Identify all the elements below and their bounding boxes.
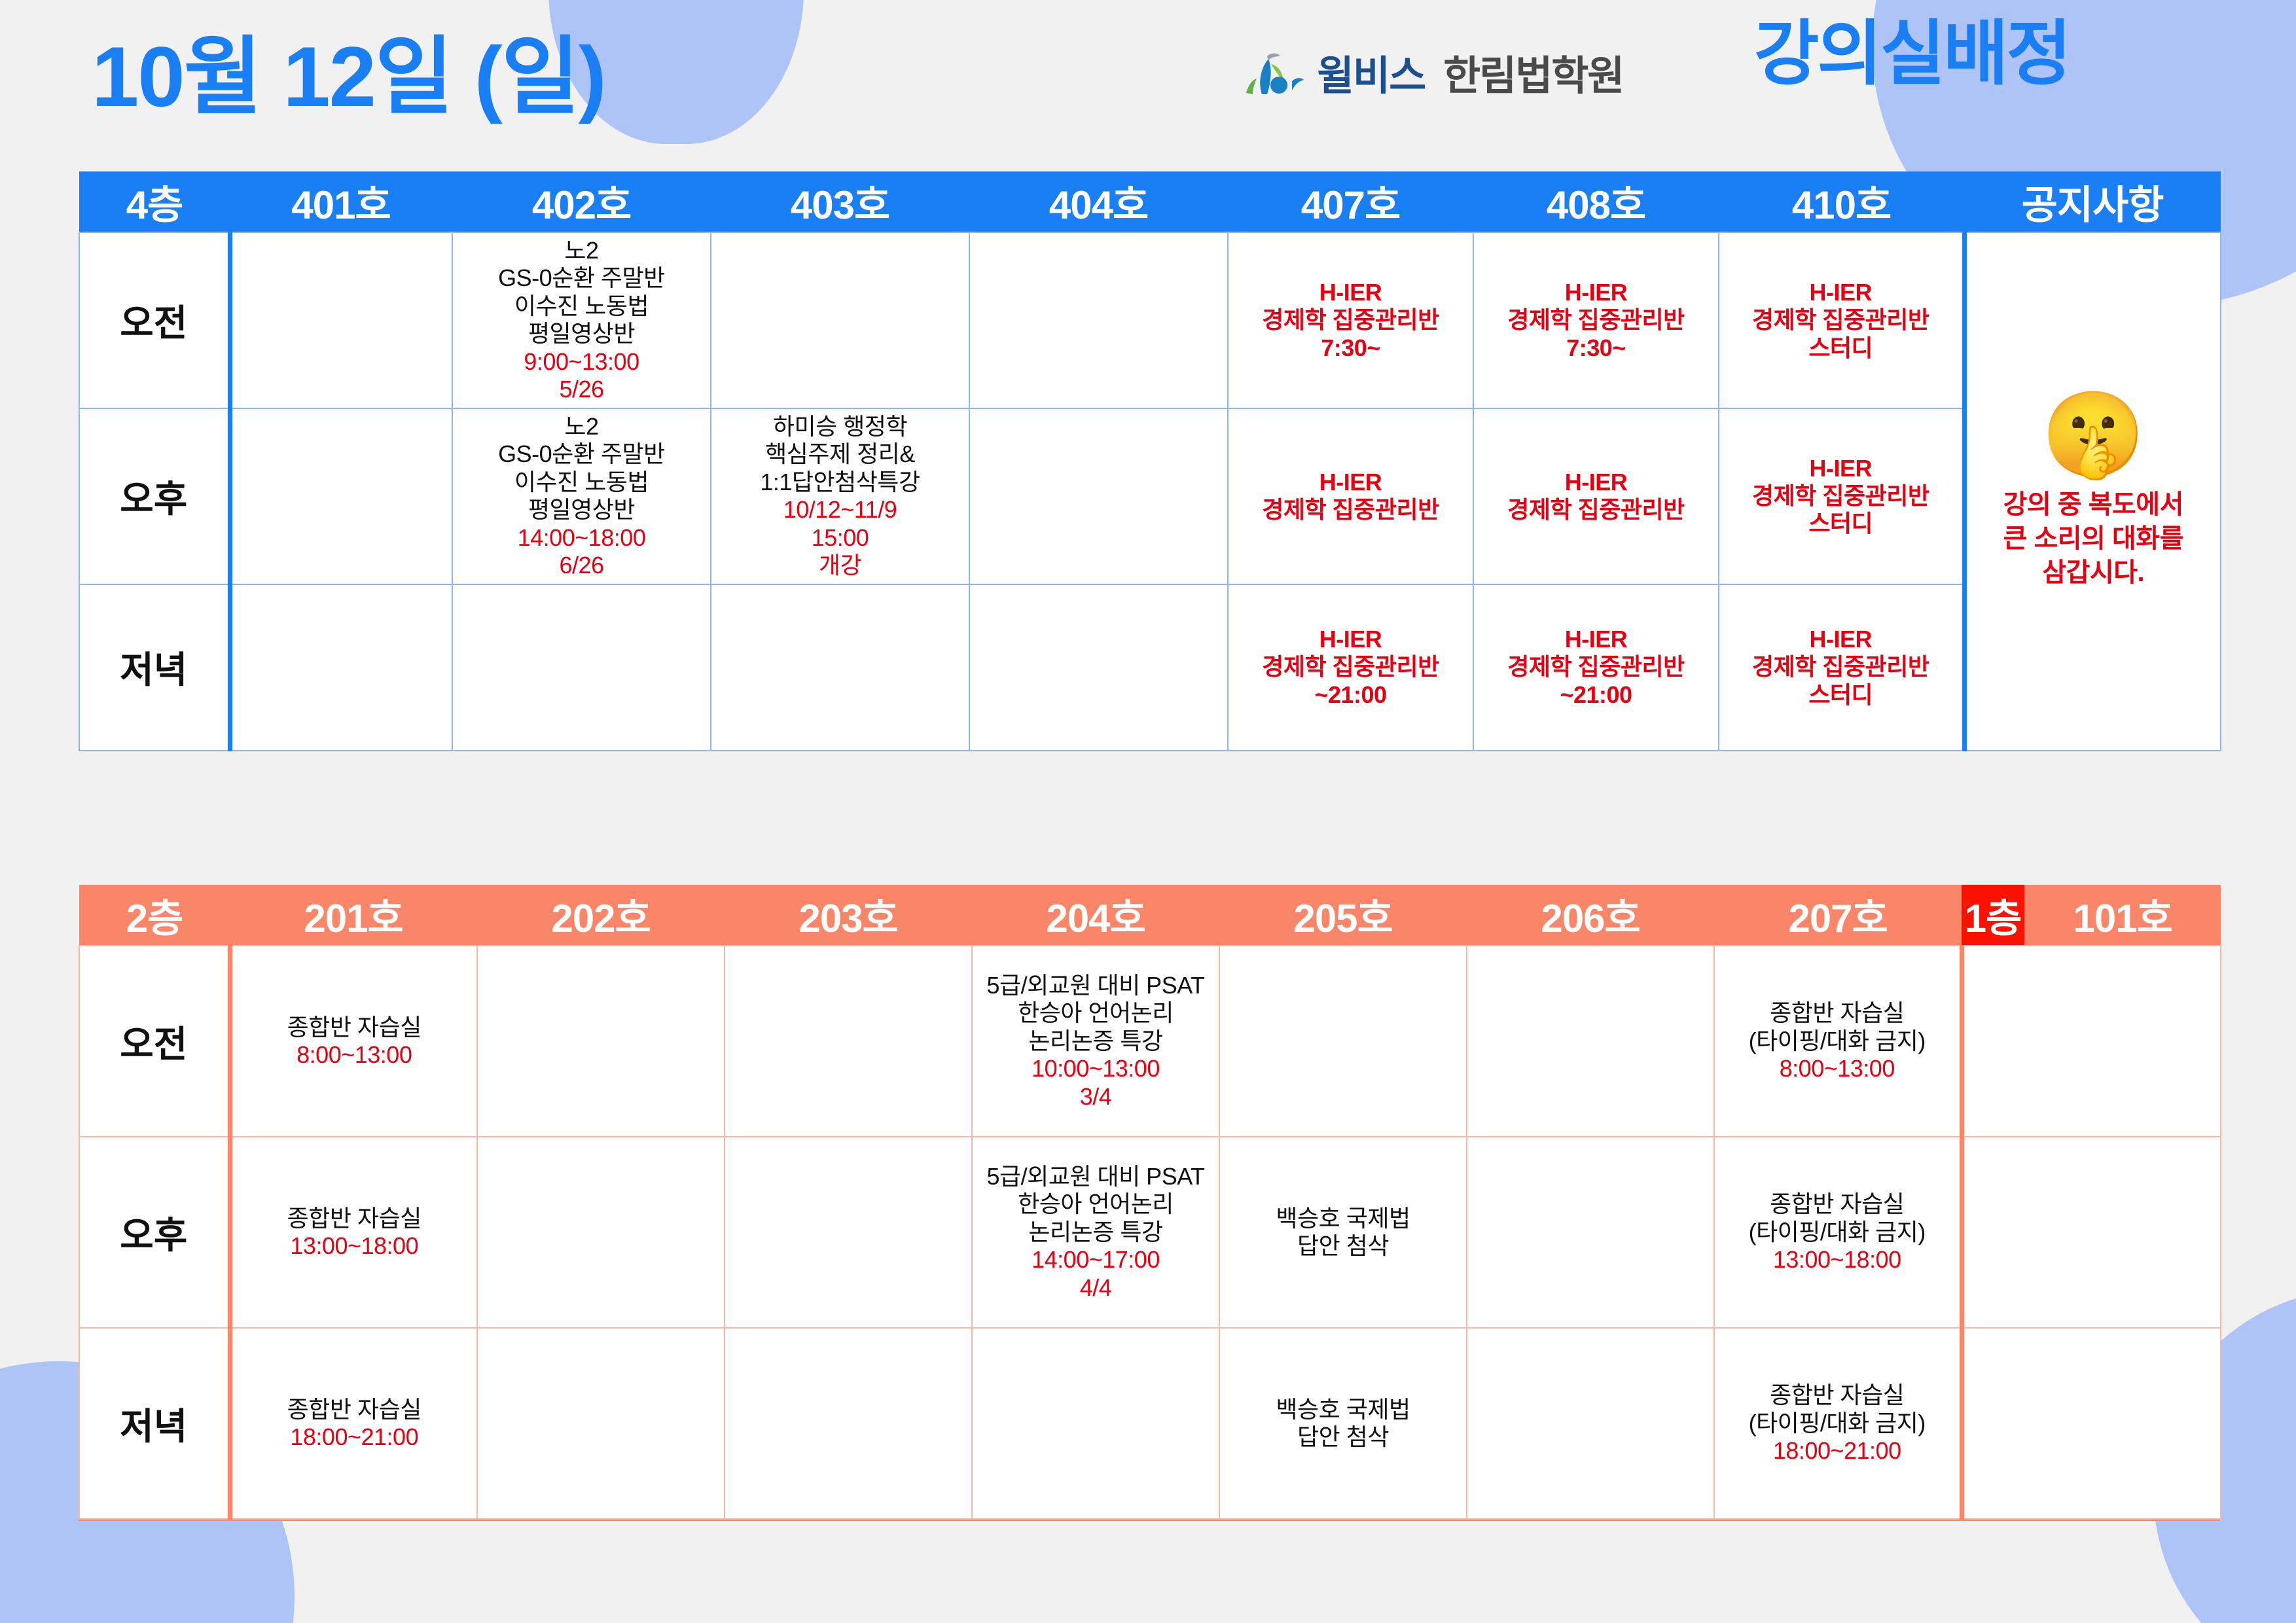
cell-content [478, 1419, 724, 1427]
floor2-column-header-207호: 207호 [1714, 885, 1962, 946]
floor1-cell-101호-저녁 [1962, 1328, 2221, 1519]
notice-text-line: 삼갑시다. [2003, 556, 2183, 590]
floor4-row-label-오전: 오전 [79, 232, 230, 408]
cell-content [970, 664, 1227, 671]
cell-content: 종합반 자습실8:00~13:00 [232, 1010, 477, 1073]
cell-text-line: 한승아 언어논리 [977, 1190, 1215, 1218]
brand-logo: 윌비스 한림법학원 [1242, 51, 1623, 97]
floor2-table-row: 저녁종합반 자습실18:00~21:00백승호 국제법답안 첨삭종합반 자습실(… [79, 1328, 2221, 1519]
cell-content [1467, 1228, 1713, 1236]
cell-content: H-IER경제학 집중관리반스터디 [1719, 275, 1962, 366]
cell-text-line: 답안 첨삭 [1224, 1232, 1462, 1260]
cell-content [1964, 1419, 2221, 1427]
cell-content: H-IER경제학 집중관리반스터디 [1719, 451, 1962, 542]
floor2-cell-206호-오전 [1467, 946, 1714, 1137]
cell-content: 하미승 행정학핵심주제 정리&1:1답안첨삭특강10/12~11/915:00개… [711, 409, 969, 584]
cell-text-line: GS-0순환 주말반 [457, 264, 706, 292]
cell-content [711, 316, 969, 324]
cell-content: 종합반 자습실18:00~21:00 [232, 1392, 477, 1455]
floor4-cell-402호-저녁 [452, 584, 711, 751]
floor2-cell-203호-저녁 [725, 1328, 972, 1519]
cell-content: 종합반 자습실(타이핑/대화 금지)18:00~21:00 [1715, 1378, 1960, 1469]
cell-content [725, 1419, 971, 1427]
cell-content [1964, 1037, 2221, 1045]
cell-content: H-IER경제학 집중관리반~21:00 [1474, 622, 1718, 713]
floor4-schedule-table: 4층401호402호403호404호407호408호410호공지사항 오전노2G… [79, 171, 2221, 751]
cell-text-line: 스터디 [1723, 510, 1958, 537]
notice-content: 🤫강의 중 복도에서큰 소리의 대화를삼갑시다. [1967, 393, 2221, 590]
cell-text-line: 이수진 노동법 [457, 293, 706, 320]
cell-content: H-IER경제학 집중관리반7:30~ [1474, 275, 1718, 366]
floor2-table-row: 오후종합반 자습실13:00~18:005급/외교원 대비 PSAT한승아 언어… [79, 1137, 2221, 1328]
floor2-column-header-202호: 202호 [477, 885, 725, 946]
cell-text-line: ~21:00 [1232, 681, 1469, 709]
floor4-header-row: 4층401호402호403호404호407호408호410호공지사항 [79, 171, 2221, 232]
cell-content: H-IER경제학 집중관리반 [1474, 465, 1718, 528]
floor4-column-header-410호: 410호 [1719, 171, 1964, 232]
cell-content [725, 1037, 971, 1045]
floor2-cell-205호-오후: 백승호 국제법답안 첨삭 [1219, 1137, 1467, 1328]
cell-text-line: 한승아 언어논리 [977, 999, 1215, 1027]
floor2-cell-207호-오전: 종합반 자습실(타이핑/대화 금지)8:00~13:00 [1714, 946, 1962, 1137]
cell-text-line: 평일영상반 [457, 320, 706, 348]
cell-content: 5급/외교원 대비 PSAT한승아 언어논리논리논증 특강10:00~13:00… [973, 968, 1219, 1115]
cell-text-line: 백승호 국제법 [1224, 1205, 1462, 1232]
cell-content: H-IER경제학 집중관리반~21:00 [1229, 622, 1473, 713]
floor2-cell-207호-저녁: 종합반 자습실(타이핑/대화 금지)18:00~21:00 [1714, 1328, 1962, 1519]
floor4-cell-408호-오후: H-IER경제학 집중관리반 [1473, 408, 1719, 584]
floor4-cell-407호-오전: H-IER경제학 집중관리반7:30~ [1228, 232, 1473, 408]
floor2-cell-204호-저녁 [972, 1328, 1219, 1519]
brand-willbes-label: 윌비스 [1317, 56, 1425, 97]
cell-text-line: (타이핑/대화 금지) [1719, 1410, 1956, 1437]
floor2-cell-202호-오전 [477, 946, 725, 1137]
cell-text-line: 종합반 자습실 [1719, 1190, 1956, 1218]
cell-content: 종합반 자습실(타이핑/대화 금지)13:00~18:00 [1715, 1186, 1960, 1277]
cell-text-line: 스터디 [1723, 681, 1958, 709]
cell-text-line: 경제학 집중관리반 [1723, 306, 1958, 334]
floor4-cell-403호-저녁 [711, 584, 969, 751]
cell-text-line: H-IER [1478, 279, 1714, 306]
cell-content [1467, 1419, 1713, 1427]
schedule-poster: 10월 12일 (일) 윌비스 한림법학원 강의실배정 4층401호402호40… [0, 0, 2296, 1623]
floor2-cell-201호-저녁: 종합반 자습실18:00~21:00 [230, 1328, 477, 1519]
floor4-floor-label: 4층 [79, 171, 230, 232]
cell-text-line: 5/26 [457, 376, 706, 403]
floor4-table-row: 오전노2GS-0순환 주말반이수진 노동법평일영상반9:00~13:005/26… [79, 232, 2221, 408]
floor2-row-label-오후: 오후 [79, 1137, 230, 1328]
cell-content [725, 1228, 971, 1236]
cell-content: H-IER경제학 집중관리반 [1229, 465, 1473, 528]
notice-text-line: 큰 소리의 대화를 [2003, 522, 2183, 556]
floor2-cell-207호-오후: 종합반 자습실(타이핑/대화 금지)13:00~18:00 [1714, 1137, 1962, 1328]
floor2-table-row: 오전종합반 자습실8:00~13:005급/외교원 대비 PSAT한승아 언어논… [79, 946, 2221, 1137]
cell-text-line: H-IER [1723, 455, 1958, 482]
floor2-cell-206호-오후 [1467, 1137, 1714, 1328]
floor2-cell-202호-저녁 [477, 1328, 725, 1519]
cell-text-line: 경제학 집중관리반 [1478, 653, 1714, 681]
cell-content [232, 664, 452, 671]
floor4-cell-407호-오후: H-IER경제학 집중관리반 [1228, 408, 1473, 584]
poster-header: 10월 12일 (일) 윌비스 한림법학원 강의실배정 [0, 0, 2296, 169]
floor4-cell-402호-오후: 노2GS-0순환 주말반이수진 노동법평일영상반14:00~18:006/26 [452, 408, 711, 584]
floor2-schedule-table: 2층201호202호203호204호205호206호207호1층101호 오전종… [79, 885, 2221, 1520]
floor4-table-row: 오후노2GS-0순환 주말반이수진 노동법평일영상반14:00~18:006/2… [79, 408, 2221, 584]
floor2-cell-205호-저녁: 백승호 국제법답안 첨삭 [1219, 1328, 1467, 1519]
cell-content [711, 664, 969, 671]
cell-content [1467, 1037, 1713, 1045]
cell-content: H-IER경제학 집중관리반7:30~ [1229, 275, 1473, 366]
floor4-cell-401호-저녁 [230, 584, 452, 751]
cell-content [1964, 1228, 2221, 1236]
floor2-cell-203호-오전 [725, 946, 972, 1137]
notice-cell: 🤫강의 중 복도에서큰 소리의 대화를삼갑시다. [1964, 232, 2221, 751]
floor4-column-header-408호: 408호 [1473, 171, 1719, 232]
cell-text-line: 경제학 집중관리반 [1232, 653, 1469, 681]
cell-text-line: 14:00~17:00 [977, 1246, 1215, 1274]
cell-text-line: 15:00 [715, 524, 965, 552]
floor4-cell-407호-저녁: H-IER경제학 집중관리반~21:00 [1228, 584, 1473, 751]
cell-text-line: 6/26 [457, 552, 706, 579]
floor4-cell-401호-오후 [230, 408, 452, 584]
cell-text-line: 백승호 국제법 [1224, 1396, 1462, 1423]
cell-content: H-IER경제학 집중관리반스터디 [1719, 622, 1962, 713]
cell-content [478, 1228, 724, 1236]
cell-content: 백승호 국제법답안 첨삭 [1220, 1392, 1466, 1455]
floor4-cell-404호-오전 [969, 232, 1228, 408]
floor4-cell-403호-오전 [711, 232, 969, 408]
cell-text-line: (타이핑/대화 금지) [1719, 1219, 1956, 1246]
cell-content: 5급/외교원 대비 PSAT한승아 언어논리논리논증 특강14:00~17:00… [973, 1159, 1219, 1306]
floor4-cell-408호-저녁: H-IER경제학 집중관리반~21:00 [1473, 584, 1719, 751]
floor2-column-header-203호: 203호 [725, 885, 972, 946]
cell-text-line: H-IER [1723, 279, 1958, 306]
floor2-column-header-206호: 206호 [1467, 885, 1714, 946]
floor4-table-row: 저녁H-IER경제학 집중관리반~21:00H-IER경제학 집중관리반~21:… [79, 584, 2221, 751]
cell-text-line: 경제학 집중관리반 [1478, 306, 1714, 334]
cell-content: 백승호 국제법답안 첨삭 [1220, 1201, 1466, 1264]
cell-content [973, 1419, 1219, 1427]
cell-text-line: 스터디 [1723, 334, 1958, 362]
cell-text-line: GS-0순환 주말반 [457, 440, 706, 468]
floor4-row-label-저녁: 저녁 [79, 584, 230, 751]
floor2-cell-204호-오전: 5급/외교원 대비 PSAT한승아 언어논리논리논증 특강10:00~13:00… [972, 946, 1219, 1137]
cell-text-line: 평일영상반 [457, 496, 706, 524]
cell-text-line: 논리논증 특강 [977, 1027, 1215, 1055]
cell-text-line: 9:00~13:00 [457, 348, 706, 376]
cell-content [232, 492, 452, 500]
floor2-row-label-오전: 오전 [79, 946, 230, 1137]
floor2-cell-202호-오후 [477, 1137, 725, 1328]
cell-text-line: 종합반 자습실 [1719, 999, 1956, 1027]
cell-text-line: 경제학 집중관리반 [1232, 306, 1469, 334]
notice-text-line: 강의 중 복도에서 [2003, 488, 2183, 522]
floor4-column-header-407호: 407호 [1228, 171, 1473, 232]
cell-content: 종합반 자습실(타이핑/대화 금지)8:00~13:00 [1715, 995, 1960, 1086]
date-title: 10월 12일 (일) [92, 34, 605, 119]
cell-text-line: (타이핑/대화 금지) [1719, 1027, 1956, 1055]
cell-text-line: 노2 [457, 237, 706, 264]
floor2-floor-label: 2층 [79, 885, 230, 946]
cell-text-line: 5급/외교원 대비 PSAT [977, 972, 1215, 999]
cell-text-line: 논리논증 특강 [977, 1219, 1215, 1246]
cell-text-line: H-IER [1478, 469, 1714, 496]
cell-text-line: 5급/외교원 대비 PSAT [977, 1163, 1215, 1190]
cell-text-line: 종합반 자습실 [1719, 1382, 1956, 1409]
cell-text-line: ~21:00 [1478, 681, 1714, 709]
floor4-cell-404호-오후 [969, 408, 1228, 584]
cell-content: 노2GS-0순환 주말반이수진 노동법평일영상반9:00~13:005/26 [453, 233, 710, 408]
notice-text: 강의 중 복도에서큰 소리의 대화를삼갑시다. [2003, 488, 2183, 590]
floor4-column-header-403호: 403호 [711, 171, 969, 232]
cell-text-line: 핵심주제 정리& [715, 440, 965, 468]
floor2-column-header-205호: 205호 [1219, 885, 1467, 946]
cell-content [970, 316, 1227, 324]
floor2-cell-206호-저녁 [1467, 1328, 1714, 1519]
cell-content [232, 316, 452, 324]
cell-text-line: 노2 [457, 413, 706, 440]
floor4-cell-408호-오전: H-IER경제학 집중관리반7:30~ [1473, 232, 1719, 408]
floor4-column-header-404호: 404호 [969, 171, 1228, 232]
cell-text-line: 경제학 집중관리반 [1723, 482, 1958, 510]
floor4-cell-410호-오후: H-IER경제학 집중관리반스터디 [1719, 408, 1964, 584]
floor2-row-label-저녁: 저녁 [79, 1328, 230, 1519]
cell-text-line: 10/12~11/9 [715, 496, 965, 524]
cell-content [970, 492, 1227, 500]
floor2-column-header-101호: 101호 [2024, 885, 2221, 946]
cell-text-line: H-IER [1232, 469, 1469, 496]
floor4-column-header-공지사항: 공지사항 [1964, 171, 2221, 232]
cell-text-line: H-IER [1232, 279, 1469, 306]
cell-text-line: 4/4 [977, 1274, 1215, 1302]
floor4-row-label-오후: 오후 [79, 408, 230, 584]
floor4-cell-403호-오후: 하미승 행정학핵심주제 정리&1:1답안첨삭특강10/12~11/915:00개… [711, 408, 969, 584]
cell-text-line: 7:30~ [1232, 334, 1469, 362]
cell-text-line: 이수진 노동법 [457, 469, 706, 496]
cell-text-line: 종합반 자습실 [236, 1205, 473, 1232]
floor2-cell-204호-오후: 5급/외교원 대비 PSAT한승아 언어논리논리논증 특강14:00~17:00… [972, 1137, 1219, 1328]
cell-text-line: 10:00~13:00 [977, 1055, 1215, 1082]
floor2-cell-201호-오후: 종합반 자습실13:00~18:00 [230, 1137, 477, 1328]
cell-text-line: 1:1답안첨삭특강 [715, 469, 965, 496]
cell-content [453, 664, 710, 671]
cell-text-line: 경제학 집중관리반 [1478, 496, 1714, 524]
floor1-cell-101호-오후 [1962, 1137, 2221, 1328]
cell-text-line: 3/4 [977, 1083, 1215, 1111]
shushing-face-emoji: 🤫 [2041, 393, 2145, 477]
floor2-column-header-201호: 201호 [230, 885, 477, 946]
willbes-logo-icon [1242, 51, 1305, 97]
cell-text-line: 종합반 자습실 [236, 1014, 473, 1041]
floor2-cell-203호-오후 [725, 1137, 972, 1328]
cell-content: 종합반 자습실13:00~18:00 [232, 1201, 477, 1264]
cell-text-line: H-IER [1478, 626, 1714, 653]
page-title: 강의실배정 [1754, 18, 2070, 89]
cell-text-line: 18:00~21:00 [236, 1423, 473, 1451]
cell-text-line: 8:00~13:00 [236, 1041, 473, 1069]
floor1-floor-label: 1층 [1962, 885, 2024, 946]
cell-text-line: 경제학 집중관리반 [1723, 653, 1958, 681]
cell-text-line: 종합반 자습실 [236, 1396, 473, 1423]
floor1-cell-101호-오전 [1962, 946, 2221, 1137]
cell-text-line: 14:00~18:00 [457, 524, 706, 552]
cell-text-line: 하미승 행정학 [715, 413, 965, 440]
cell-content [478, 1037, 724, 1045]
floor4-cell-401호-오전 [230, 232, 452, 408]
floor2-column-header-204호: 204호 [972, 885, 1219, 946]
cell-text-line: 8:00~13:00 [1719, 1055, 1956, 1082]
floor4-cell-404호-저녁 [969, 584, 1228, 751]
floor4-cell-410호-저녁: H-IER경제학 집중관리반스터디 [1719, 584, 1964, 751]
cell-text-line: 18:00~21:00 [1719, 1437, 1956, 1465]
cell-content [1220, 1037, 1466, 1045]
cell-text-line: 답안 첨삭 [1224, 1423, 1462, 1451]
cell-text-line: H-IER [1723, 626, 1958, 653]
cell-text-line: 경제학 집중관리반 [1232, 496, 1469, 524]
cell-text-line: 13:00~18:00 [1719, 1246, 1956, 1274]
floor2-header-row: 2층201호202호203호204호205호206호207호1층101호 [79, 885, 2221, 946]
floor4-column-header-402호: 402호 [452, 171, 711, 232]
cell-text-line: 13:00~18:00 [236, 1232, 473, 1260]
floor4-column-header-401호: 401호 [230, 171, 452, 232]
floor4-cell-402호-오전: 노2GS-0순환 주말반이수진 노동법평일영상반9:00~13:005/26 [452, 232, 711, 408]
floor4-cell-410호-오전: H-IER경제학 집중관리반스터디 [1719, 232, 1964, 408]
brand-hanlim-label: 한림법학원 [1443, 56, 1623, 97]
cell-text-line: 개강 [715, 552, 965, 579]
floor2-cell-201호-오전: 종합반 자습실8:00~13:00 [230, 946, 477, 1137]
cell-text-line: 7:30~ [1478, 334, 1714, 362]
cell-text-line: H-IER [1232, 626, 1469, 653]
floor2-cell-205호-오전 [1219, 946, 1467, 1137]
cell-content: 노2GS-0순환 주말반이수진 노동법평일영상반14:00~18:006/26 [453, 409, 710, 584]
